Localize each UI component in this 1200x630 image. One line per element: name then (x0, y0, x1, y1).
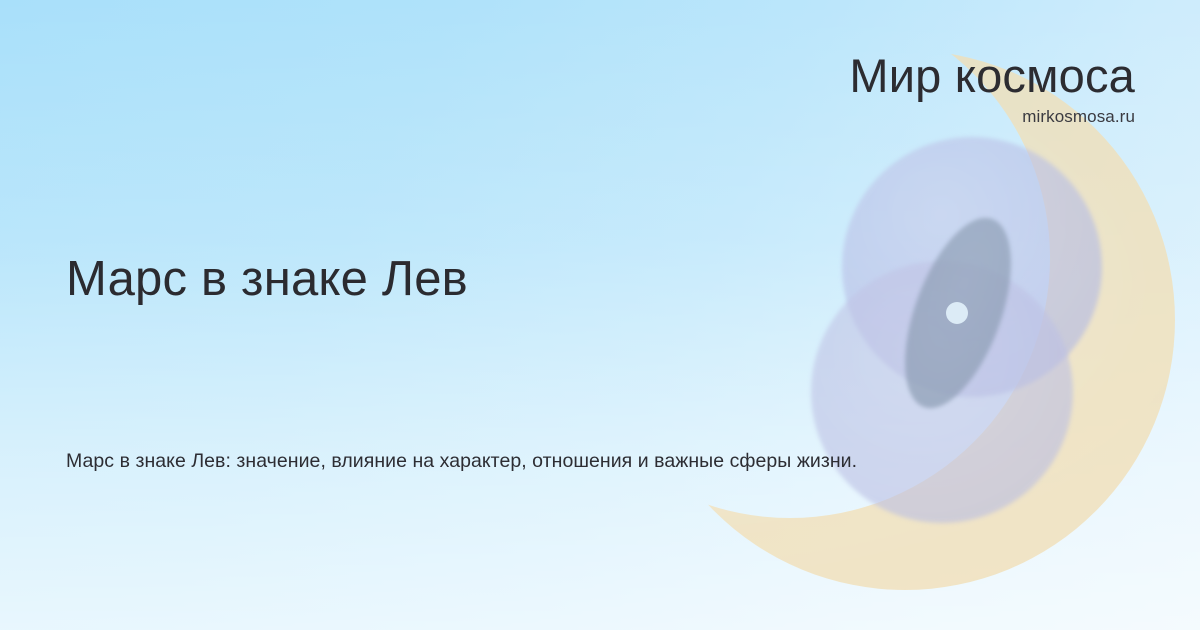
page-description: Марс в знаке Лев: значение, влияние на х… (66, 448, 857, 474)
brand-name: Мир космоса (849, 52, 1135, 99)
upper-orb-circle (842, 137, 1102, 397)
page-title: Марс в знаке Лев (66, 252, 468, 307)
center-dot (946, 302, 968, 324)
core-ellipse (883, 204, 1032, 421)
brand-logo-block: Мир космоса mirkosmosa.ru (849, 52, 1135, 125)
og-share-card: Мир космоса mirkosmosa.ru Марс в знаке Л… (0, 0, 1200, 630)
lower-orb-circle (811, 261, 1073, 523)
brand-url: mirkosmosa.ru (849, 108, 1135, 125)
